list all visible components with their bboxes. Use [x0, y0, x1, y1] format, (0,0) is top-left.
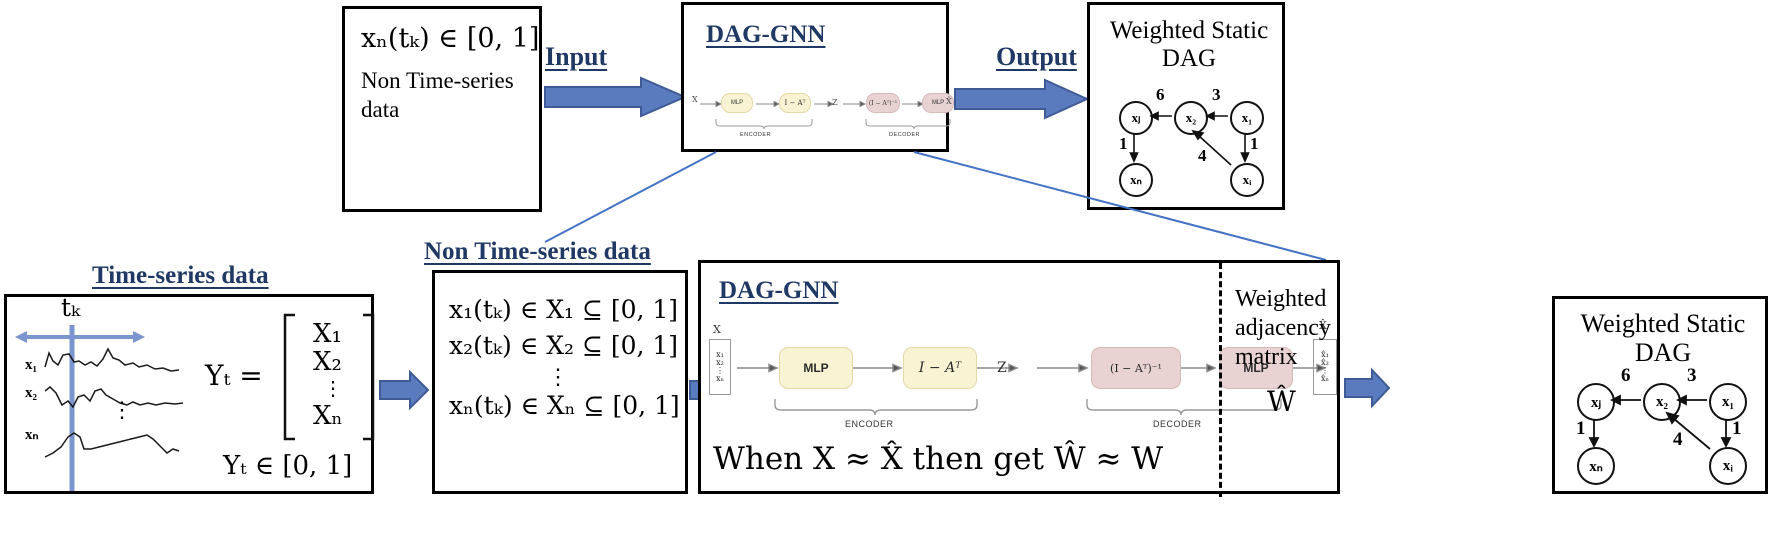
- adjacency-caption: Weighted adjacency matrix: [1235, 285, 1339, 371]
- output-vector-item-n: x̂ₙ: [1321, 375, 1329, 383]
- bottom-pipeline-braces: [771, 397, 1311, 417]
- bottom-dag-weight-3: 3: [1687, 365, 1697, 387]
- timeseries-matrix-row-1: X₁: [313, 319, 342, 349]
- bottom-daggnn-title: DAG-GNN: [719, 277, 838, 305]
- timeseries-label-xn: xₙ: [25, 425, 38, 444]
- timeseries-vdots: ⋮: [111, 397, 133, 423]
- nonts-line-n: xₙ(tₖ) ∈ Xₙ ⊆ [0, 1]: [449, 391, 680, 420]
- bottom-gnn-equation: When X ≈ X̂ then get Ŵ ≈ W: [713, 441, 1163, 477]
- bottom-dag-weight-6: 6: [1621, 365, 1631, 387]
- bottom-daggnn-box: DAG-GNN X x₁ x₂ ⋮ xₙ MLP I − Aᵀ Z (I − A…: [698, 260, 1340, 494]
- timeseries-label-x2: x₂: [25, 385, 37, 402]
- timeseries-label-x1: x₁: [25, 357, 37, 374]
- timeseries-matrix-row-n: Xₙ: [313, 401, 343, 431]
- timeseries-matrix-row-2: X₂: [313, 347, 342, 377]
- timeseries-box: tₖ x₁ x₂ xₙ ⋮ Yₜ = X₁ X₂ ⋮ Xₙ Yₜ ∈ [0, 1…: [4, 294, 374, 494]
- bottom-gnn-input-vector: x₁ x₂ ⋮ xₙ: [709, 339, 731, 395]
- nonts-line-dots: ⋮: [547, 365, 569, 390]
- bottom-gnn-latent-symbol: Z: [997, 360, 1007, 376]
- nonts-box: x₁(tₖ) ∈ X₁ ⊆ [0, 1] x₂(tₖ) ∈ X₂ ⊆ [0, 1…: [432, 270, 688, 494]
- adjacency-symbol: Ŵ: [1267, 385, 1296, 418]
- timeseries-range-note: Yₜ ∈ [0, 1]: [223, 451, 352, 481]
- bottom-dag-weight-1b: 1: [1732, 418, 1742, 440]
- adjacency-divider: [1219, 263, 1222, 497]
- nonts-line-1: x₁(tₖ) ∈ X₁ ⊆ [0, 1]: [449, 295, 678, 324]
- bottom-encoder-caption: ENCODER: [845, 419, 894, 429]
- timeseries-header: Time-series data: [92, 262, 269, 290]
- input-vector-item-n: xₙ: [716, 375, 724, 383]
- bottom-decoder-block-inv: (I − Aᵀ)⁻¹: [1091, 347, 1181, 389]
- nonts-header: Non Time-series data: [424, 238, 651, 266]
- bottom-encoder-block-mlp: MLP: [779, 347, 853, 389]
- nonts-line-2: x₂(tₖ) ∈ X₂ ⊆ [0, 1]: [449, 331, 678, 360]
- bottom-gnn-input-symbol: X: [713, 323, 721, 336]
- timeseries-matrix-lhs: Yₜ =: [205, 359, 263, 392]
- bottom-dag-weight-4: 4: [1673, 429, 1683, 451]
- timeseries-axis-label: tₖ: [61, 293, 80, 322]
- bottom-dag-weight-1a: 1: [1576, 418, 1586, 440]
- bottom-decoder-caption: DECODER: [1153, 419, 1202, 429]
- timeseries-matrix-row-dots: ⋮: [323, 376, 343, 400]
- bottom-arrow-3-icon: [1345, 370, 1389, 406]
- bottom-dag-edges: [1555, 299, 1771, 497]
- bottom-encoder-block-ia: I − Aᵀ: [903, 347, 977, 389]
- bottom-arrow-1-icon: [380, 372, 428, 408]
- bottom-dag-box: Weighted Static DAG xⱼ x₂ x₁ xₙ xᵢ 6 3 1…: [1552, 296, 1768, 494]
